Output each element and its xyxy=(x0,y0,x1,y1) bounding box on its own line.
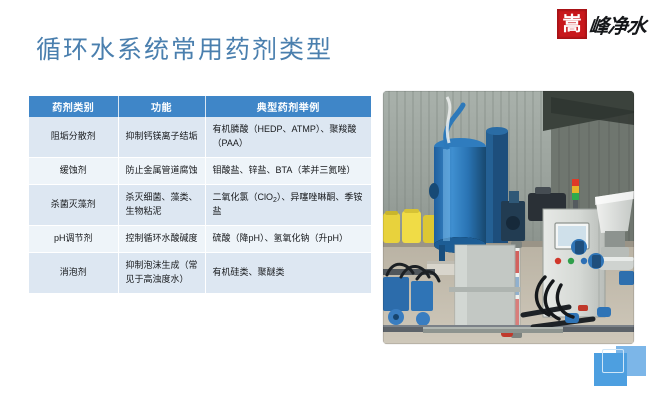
equipment-photo xyxy=(383,91,634,344)
cell-examples: 硫酸（降pH）、氢氧化钠（升pH） xyxy=(205,225,371,252)
page-title: 循环水系统常用药剂类型 xyxy=(36,30,333,66)
cell-examples: 有机硅类、聚醚类 xyxy=(205,252,371,293)
cell-examples: 有机膦酸（HEDP、ATMP）、聚羧酸（PAA） xyxy=(205,117,371,157)
examples-subscript: 2 xyxy=(273,197,277,204)
company-logo: 嵩 峰净水 xyxy=(557,8,646,40)
examples-prefix: 二氧化氯（ClO xyxy=(213,192,274,202)
cell-category: 消泡剂 xyxy=(29,252,118,293)
table-header-row: 药剂类别 功能 典型药剂举例 xyxy=(29,96,371,117)
chemical-types-table: 药剂类别 功能 典型药剂举例 阻垢分散剂 抑制钙镁离子结垢 有机膦酸（HEDP、… xyxy=(29,96,371,294)
cell-examples: 钼酸盐、锌盐、BTA（苯并三氮唑） xyxy=(205,157,371,184)
cell-category: 杀菌灭藻剂 xyxy=(29,184,118,225)
decoration-square-outline-icon xyxy=(602,349,624,373)
cell-category: pH调节剂 xyxy=(29,225,118,252)
cell-function: 杀灭细菌、藻类、生物粘泥 xyxy=(118,184,205,225)
equipment-photo-illustration xyxy=(383,91,634,344)
table-row: pH调节剂 控制循环水酸碱度 硫酸（降pH）、氢氧化钠（升pH） xyxy=(29,225,371,252)
cell-function: 抑制泡沫生成（常见于高浊度水） xyxy=(118,252,205,293)
column-header-function: 功能 xyxy=(118,96,205,117)
logo-seal-icon: 嵩 xyxy=(557,9,587,39)
table-row: 杀菌灭藻剂 杀灭细菌、藻类、生物粘泥 二氧化氯（ClO2）、异噻唑啉酮、季铵盐 xyxy=(29,184,371,225)
table-row: 阻垢分散剂 抑制钙镁离子结垢 有机膦酸（HEDP、ATMP）、聚羧酸（PAA） xyxy=(29,117,371,157)
cell-function: 防止金属管道腐蚀 xyxy=(118,157,205,184)
column-header-category: 药剂类别 xyxy=(29,96,118,117)
column-header-examples: 典型药剂举例 xyxy=(205,96,371,117)
cell-examples: 二氧化氯（ClO2）、异噻唑啉酮、季铵盐 xyxy=(205,184,371,225)
table-row: 消泡剂 抑制泡沫生成（常见于高浊度水） 有机硅类、聚醚类 xyxy=(29,252,371,293)
cell-category: 缓蚀剂 xyxy=(29,157,118,184)
cell-function: 控制循环水酸碱度 xyxy=(118,225,205,252)
cell-category: 阻垢分散剂 xyxy=(29,117,118,157)
cell-function: 抑制钙镁离子结垢 xyxy=(118,117,205,157)
table-row: 缓蚀剂 防止金属管道腐蚀 钼酸盐、锌盐、BTA（苯并三氮唑） xyxy=(29,157,371,184)
corner-decoration xyxy=(594,344,646,386)
slide-canvas: 嵩 峰净水 循环水系统常用药剂类型 药剂类别 功能 典型药剂举例 阻垢分散剂 抑… xyxy=(0,0,660,400)
logo-wordmark: 峰净水 xyxy=(587,10,647,39)
signal-tower-light xyxy=(572,179,579,210)
